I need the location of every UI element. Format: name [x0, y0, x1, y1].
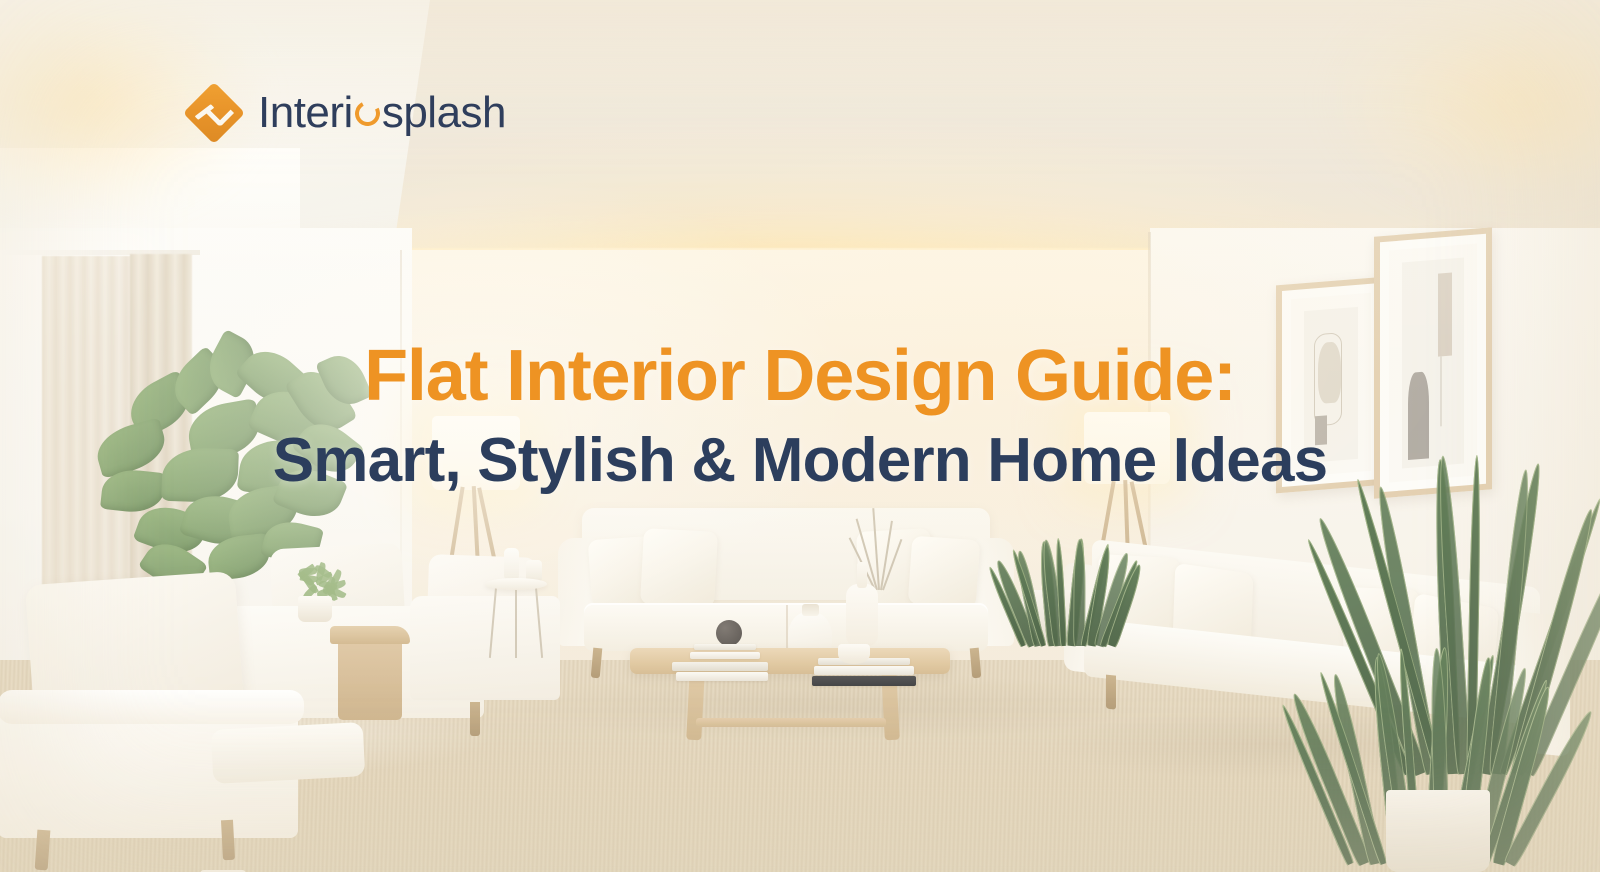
brand-wordmark: Interi splash	[258, 91, 506, 135]
decor-book	[676, 672, 768, 681]
brand-wordmark-part2: splash	[382, 91, 506, 135]
chair-seat-cushion	[211, 722, 366, 784]
ceramic-bowl	[838, 644, 870, 664]
sofa-seat-cushion	[584, 603, 988, 651]
chair-leg	[35, 830, 51, 871]
table-top	[485, 578, 547, 590]
round-side-table	[485, 578, 547, 664]
sofa-leg	[591, 648, 603, 679]
hero-banner: Interi splash Flat Interior Design Guide…	[0, 0, 1600, 872]
cove-light-glow-right	[1200, 0, 1600, 250]
ceramic-bottle	[504, 548, 519, 582]
plant-pot	[1386, 790, 1490, 872]
hero-headline: Flat Interior Design Guide: Smart, Styli…	[0, 338, 1600, 494]
headline-line-primary: Flat Interior Design Guide:	[0, 338, 1600, 414]
diamond-monogram-icon	[186, 85, 242, 141]
chair-arm	[0, 690, 304, 724]
sofa-leg	[1106, 675, 1116, 710]
chair-leg	[221, 820, 235, 861]
decor-sphere	[716, 620, 742, 646]
table-leg	[489, 586, 497, 658]
decor-book	[694, 644, 756, 650]
sofa-leg	[970, 648, 982, 679]
tall-ceramic-vase	[846, 584, 878, 646]
decor-book	[814, 666, 914, 675]
throw-pillow	[640, 528, 718, 608]
brand-o-ring-icon	[352, 98, 384, 130]
headline-line-secondary: Smart, Stylish & Modern Home Ideas	[0, 428, 1600, 494]
decor-book	[812, 676, 916, 686]
table-leg	[515, 586, 517, 658]
table-stretcher	[696, 718, 886, 727]
table-leg	[535, 586, 543, 658]
brand-logo[interactable]: Interi splash	[186, 80, 506, 146]
decor-book	[690, 652, 760, 659]
decor-book	[672, 662, 768, 671]
armchair-foreground	[0, 578, 394, 872]
brand-wordmark-part1: Interi	[258, 91, 353, 135]
throw-pillow	[908, 536, 981, 609]
snake-plant-left	[1014, 494, 1124, 654]
